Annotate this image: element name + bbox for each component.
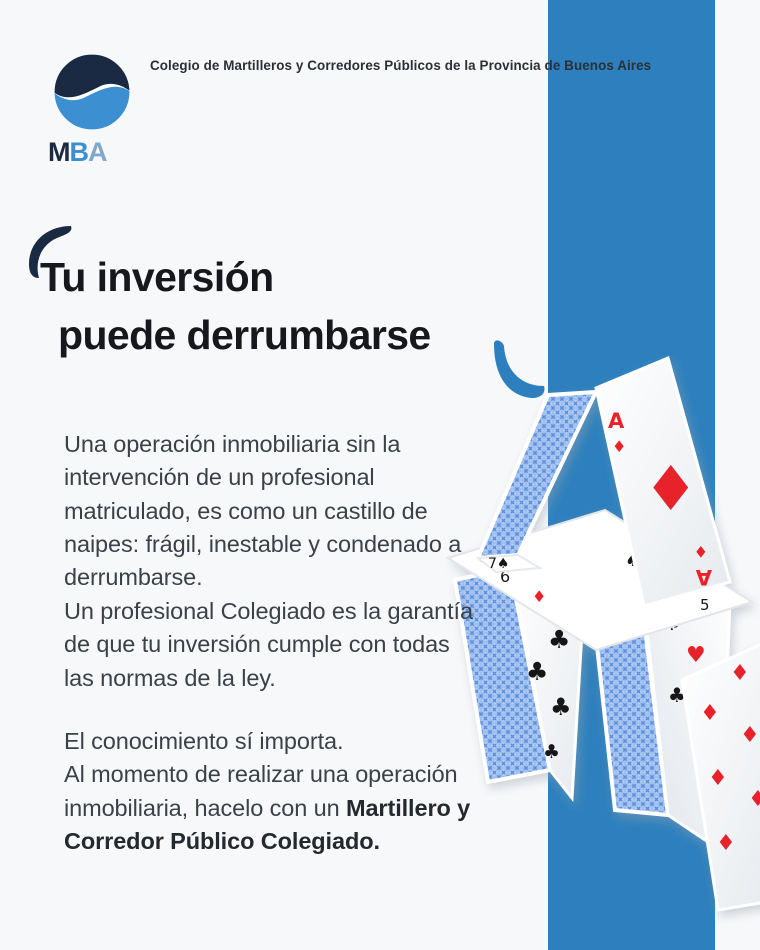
paragraph-one-b: Un profesional Colegiado es la garantía … (64, 598, 473, 691)
logo-letter-b: B (70, 137, 89, 167)
svg-text:♠: ♠ (474, 547, 489, 567)
paragraph-two-lead: El conocimiento sí importa. (64, 728, 343, 754)
logo-letter-m: M (48, 137, 70, 167)
svg-text:♦: ♦ (748, 787, 760, 812)
paragraph-one: Una operación inmobiliaria sin la interv… (64, 428, 474, 695)
poster-header: MBA Colegio de Martilleros y Corredores … (0, 0, 760, 180)
body-copy: Una operación inmobiliaria sin la interv… (64, 428, 474, 858)
headline-line-1: Tu inversión (0, 248, 560, 306)
poster-canvas: MBA Colegio de Martilleros y Corredores … (0, 0, 760, 950)
paragraph-one-a: Una operación inmobiliaria sin la interv… (64, 431, 461, 590)
svg-text:♦: ♦ (532, 587, 546, 606)
svg-text:♦: ♦ (716, 831, 736, 856)
logo-letter-a: A (88, 137, 107, 167)
card-face-seven-spades (478, 555, 540, 572)
headline-line-2: puede derrumbarse (0, 306, 560, 364)
seven-label: 7♠ (488, 556, 509, 572)
mba-wordmark: MBA (48, 139, 146, 166)
mba-circular-wave-logo-icon (48, 48, 136, 136)
mba-logo: MBA (42, 48, 146, 168)
organization-name: Colegio de Martilleros y Corredores Públ… (150, 58, 730, 73)
paragraph-two: El conocimiento sí importa. Al momento d… (64, 725, 474, 858)
svg-text:♣: ♣ (526, 657, 548, 686)
svg-text:6: 6 (500, 567, 510, 586)
headline-block: Tu inversión puede derrumbarse (0, 248, 560, 364)
svg-text:♦: ♦ (730, 661, 750, 686)
svg-text:♦: ♦ (740, 723, 760, 748)
